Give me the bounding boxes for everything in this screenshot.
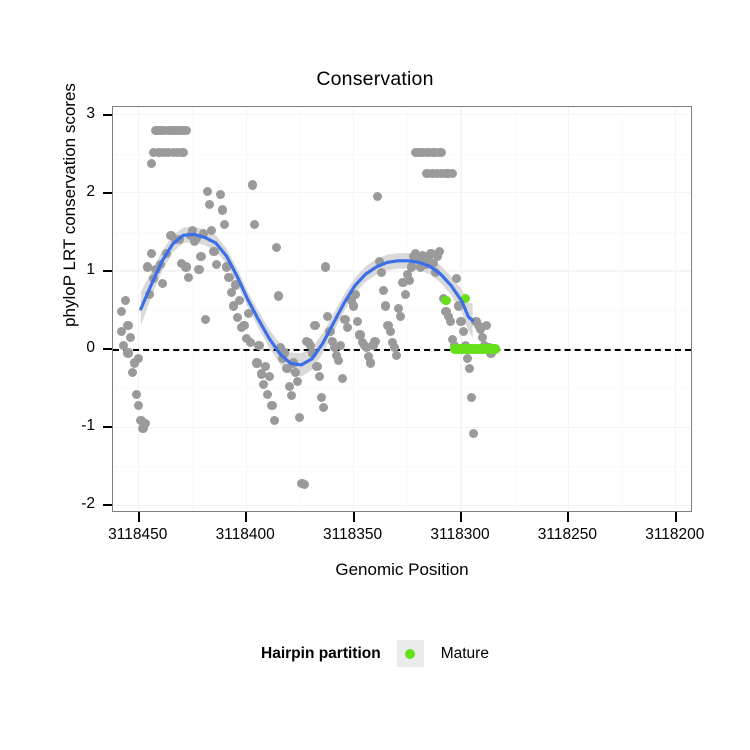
legend-label-mature: Mature — [441, 645, 489, 663]
x-axis-tick — [138, 512, 140, 522]
y-axis-tick-label: 3 — [15, 105, 95, 123]
x-axis-tick — [460, 512, 462, 522]
legend-title: Hairpin partition — [261, 645, 381, 663]
x-axis-tick — [567, 512, 569, 522]
x-axis-label: Genomic Position — [112, 560, 692, 580]
x-axis-tick-label: 3118450 — [83, 526, 193, 544]
x-axis-tick — [675, 512, 677, 522]
legend: Hairpin partition Mature — [0, 640, 750, 667]
y-axis-tick — [103, 114, 112, 116]
x-axis-tick-label: 3118400 — [190, 526, 300, 544]
y-axis-tick-label: 1 — [15, 261, 95, 279]
y-axis-tick-label: -1 — [15, 417, 95, 435]
conservation-chart: Conservation phyloP LRT conservation sco… — [0, 0, 750, 750]
y-axis-tick — [103, 504, 112, 506]
x-axis-tick — [353, 512, 355, 522]
y-axis-tick — [103, 192, 112, 194]
x-axis-tick-label: 3118300 — [405, 526, 515, 544]
y-axis-tick — [103, 270, 112, 272]
y-axis-tick-label: -2 — [15, 495, 95, 513]
loess-fit-line — [113, 107, 691, 511]
green-dot-icon — [405, 649, 415, 659]
y-axis-tick — [103, 426, 112, 428]
x-axis-tick — [245, 512, 247, 522]
x-axis-tick-label: 3118200 — [620, 526, 730, 544]
y-axis-tick — [103, 348, 112, 350]
y-axis-tick-label: 2 — [15, 183, 95, 201]
y-axis-tick-label: 0 — [15, 339, 95, 357]
x-axis-tick-label: 3118250 — [512, 526, 622, 544]
chart-title: Conservation — [0, 68, 750, 91]
plot-panel — [112, 106, 692, 512]
x-axis-tick-label: 3118350 — [298, 526, 408, 544]
legend-key-mature[interactable] — [397, 640, 424, 667]
